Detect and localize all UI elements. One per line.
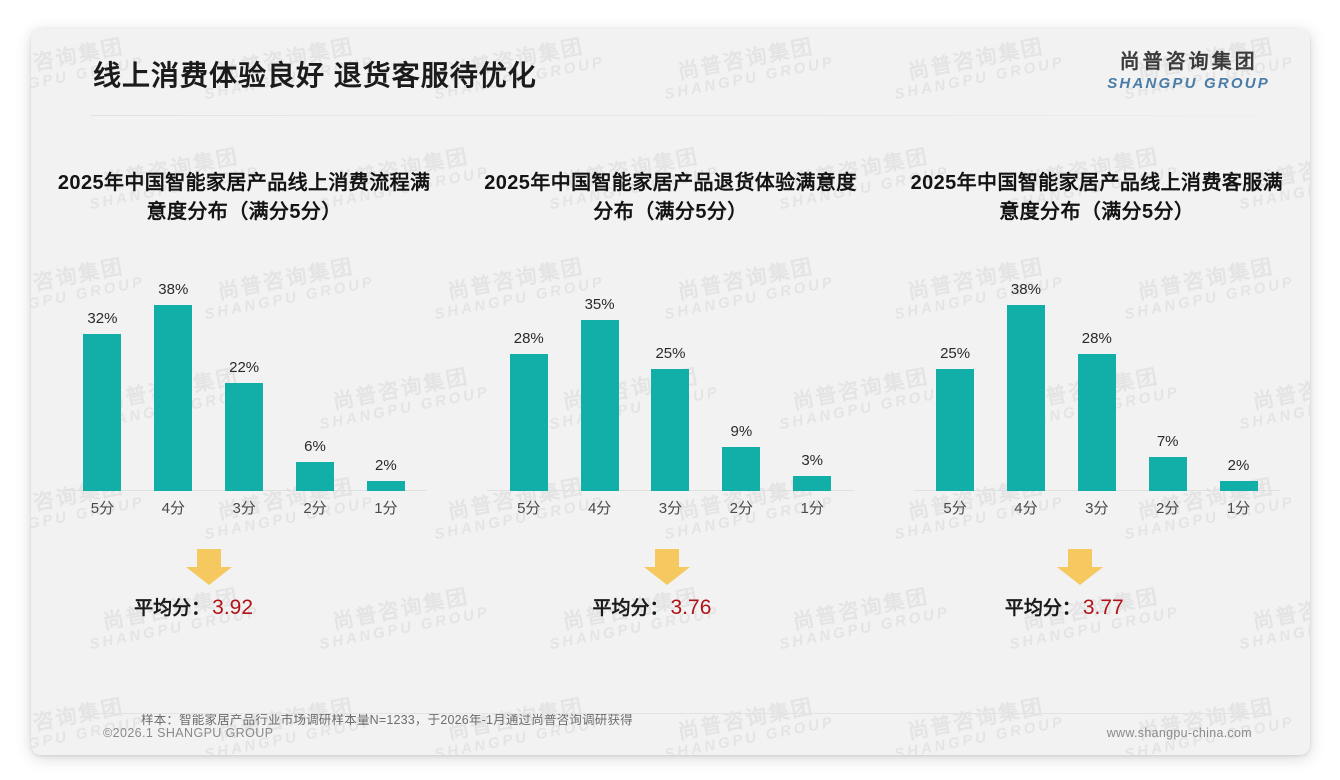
- x-axis-tick-label: 5分: [67, 497, 138, 518]
- bar-value-label: 35%: [585, 296, 615, 313]
- footer-divider: [93, 713, 1268, 714]
- x-axis-labels: 5分4分3分2分1分: [920, 493, 1274, 521]
- x-axis-tick-label: 2分: [1132, 497, 1203, 518]
- bar-value-label: 28%: [514, 330, 544, 347]
- average-score-value: 3.92: [212, 596, 253, 619]
- bar-group: 38%: [138, 251, 209, 491]
- plot-area: 28%35%25%9%3%: [493, 251, 847, 491]
- chart-panel-consumption-process: 2025年中国智能家居产品线上消费流程满意度分布（满分5分） 32%38%22%…: [31, 144, 457, 674]
- bar-group: 25%: [920, 251, 991, 491]
- x-axis-tick-label: 4分: [991, 497, 1062, 518]
- bar: [1149, 457, 1187, 491]
- bar-group: 7%: [1132, 251, 1203, 491]
- bar-group: 9%: [706, 251, 777, 491]
- average-score-block: 平均分：3.92: [39, 549, 449, 641]
- bar-value-label: 7%: [1157, 433, 1179, 450]
- bar: [1007, 305, 1045, 491]
- charts-row: 2025年中国智能家居产品线上消费流程满意度分布（满分5分） 32%38%22%…: [31, 144, 1310, 674]
- bar-group: 32%: [67, 251, 138, 491]
- slide-header: 线上消费体验良好 退货客服待优化 尚普咨询集团 SHANGPU GROUP: [31, 29, 1310, 117]
- bar-value-label: 2%: [375, 457, 397, 474]
- bar-value-label: 25%: [655, 345, 685, 362]
- bar: [225, 383, 263, 491]
- x-axis-labels: 5分4分3分2分1分: [67, 493, 421, 521]
- bar-value-label: 38%: [158, 281, 188, 298]
- down-arrow-icon: [644, 549, 690, 585]
- average-score-label: 平均分：: [1005, 598, 1081, 619]
- bar-value-label: 32%: [87, 310, 117, 327]
- bar-group: 28%: [1061, 251, 1132, 491]
- chart-panel-return-experience: 2025年中国智能家居产品退货体验满意度分布（满分5分） 28%35%25%9%…: [457, 144, 883, 674]
- bar-value-label: 25%: [940, 345, 970, 362]
- chart-title: 2025年中国智能家居产品退货体验满意度分布（满分5分）: [465, 144, 875, 227]
- x-axis-tick-label: 2分: [706, 497, 777, 518]
- chart-title: 2025年中国智能家居产品线上消费流程满意度分布（满分5分）: [39, 144, 449, 227]
- slide-footer: ©2026.1 SHANGPU GROUP www.shangpu-china.…: [31, 713, 1310, 755]
- bar-group: 2%: [350, 251, 421, 491]
- x-axis-tick-label: 1分: [1203, 497, 1274, 518]
- average-score: 平均分：3.77: [1005, 593, 1124, 620]
- bar-chart: 32%38%22%6%2% 5分4分3分2分1分: [67, 251, 421, 521]
- bar: [510, 354, 548, 491]
- plot-area: 32%38%22%6%2%: [67, 251, 421, 491]
- down-arrow-icon: [186, 549, 232, 585]
- average-score-label: 平均分：: [134, 598, 210, 619]
- bar-value-label: 38%: [1011, 281, 1041, 298]
- bar: [722, 447, 760, 491]
- logo-english-text: SHANGPU GROUP: [1107, 76, 1270, 92]
- bar-group: 3%: [777, 251, 848, 491]
- bar-chart: 28%35%25%9%3% 5分4分3分2分1分: [493, 251, 847, 521]
- x-axis-tick-label: 3分: [209, 497, 280, 518]
- bar-chart: 25%38%28%7%2% 5分4分3分2分1分: [920, 251, 1274, 521]
- bar-value-label: 9%: [730, 423, 752, 440]
- average-score-value: 3.76: [671, 596, 712, 619]
- bar: [154, 305, 192, 491]
- header-divider: [91, 115, 1270, 116]
- chart-title: 2025年中国智能家居产品线上消费客服满意度分布（满分5分）: [892, 144, 1302, 227]
- x-axis-tick-label: 5分: [920, 497, 991, 518]
- average-score-block: 平均分：3.76: [465, 549, 875, 641]
- bar-value-label: 2%: [1228, 457, 1250, 474]
- bar: [651, 369, 689, 492]
- bar-group: 38%: [991, 251, 1062, 491]
- bar-group: 6%: [280, 251, 351, 491]
- plot-area: 25%38%28%7%2%: [920, 251, 1274, 491]
- bar: [1220, 481, 1258, 491]
- x-axis-tick-label: 4分: [564, 497, 635, 518]
- brand-logo: 尚普咨询集团 SHANGPU GROUP: [1107, 52, 1270, 92]
- copyright-text: ©2026.1 SHANGPU GROUP: [103, 726, 273, 740]
- x-axis-tick-label: 1分: [777, 497, 848, 518]
- x-axis-tick-label: 3分: [1061, 497, 1132, 518]
- bar-group: 2%: [1203, 251, 1274, 491]
- x-axis-tick-label: 1分: [350, 497, 421, 518]
- x-axis-tick-label: 2分: [280, 497, 351, 518]
- average-score-label: 平均分：: [592, 598, 668, 619]
- bar: [581, 320, 619, 492]
- bar: [936, 369, 974, 492]
- x-axis-tick-label: 5分: [493, 497, 564, 518]
- bar-value-label: 28%: [1082, 330, 1112, 347]
- x-axis-labels: 5分4分3分2分1分: [493, 493, 847, 521]
- bar: [793, 476, 831, 491]
- down-arrow-icon: [1057, 549, 1103, 585]
- bar: [296, 462, 334, 491]
- bar-value-label: 22%: [229, 359, 259, 376]
- x-axis-tick-label: 4分: [138, 497, 209, 518]
- average-score-block: 平均分：3.77: [892, 549, 1302, 641]
- x-axis-tick-label: 3分: [635, 497, 706, 518]
- bar-group: 28%: [493, 251, 564, 491]
- bar-group: 25%: [635, 251, 706, 491]
- bar: [367, 481, 405, 491]
- logo-chinese-text: 尚普咨询集团: [1107, 52, 1270, 74]
- page-title: 线上消费体验良好 退货客服待优化: [93, 54, 537, 94]
- bar-value-label: 3%: [801, 452, 823, 469]
- bar-group: 35%: [564, 251, 635, 491]
- chart-panel-customer-service: 2025年中国智能家居产品线上消费客服满意度分布（满分5分） 25%38%28%…: [884, 144, 1310, 674]
- bar-group: 22%: [209, 251, 280, 491]
- average-score: 平均分：3.76: [592, 593, 711, 620]
- website-link[interactable]: www.shangpu-china.com: [1107, 726, 1252, 740]
- average-score-value: 3.77: [1083, 596, 1124, 619]
- bar: [83, 334, 121, 491]
- slide-card: 尚普咨询集团SHANGPU GROUP尚普咨询集团SHANGPU GROUP尚普…: [31, 29, 1310, 755]
- average-score: 平均分：3.92: [134, 593, 253, 620]
- bar: [1078, 354, 1116, 491]
- bar-value-label: 6%: [304, 438, 326, 455]
